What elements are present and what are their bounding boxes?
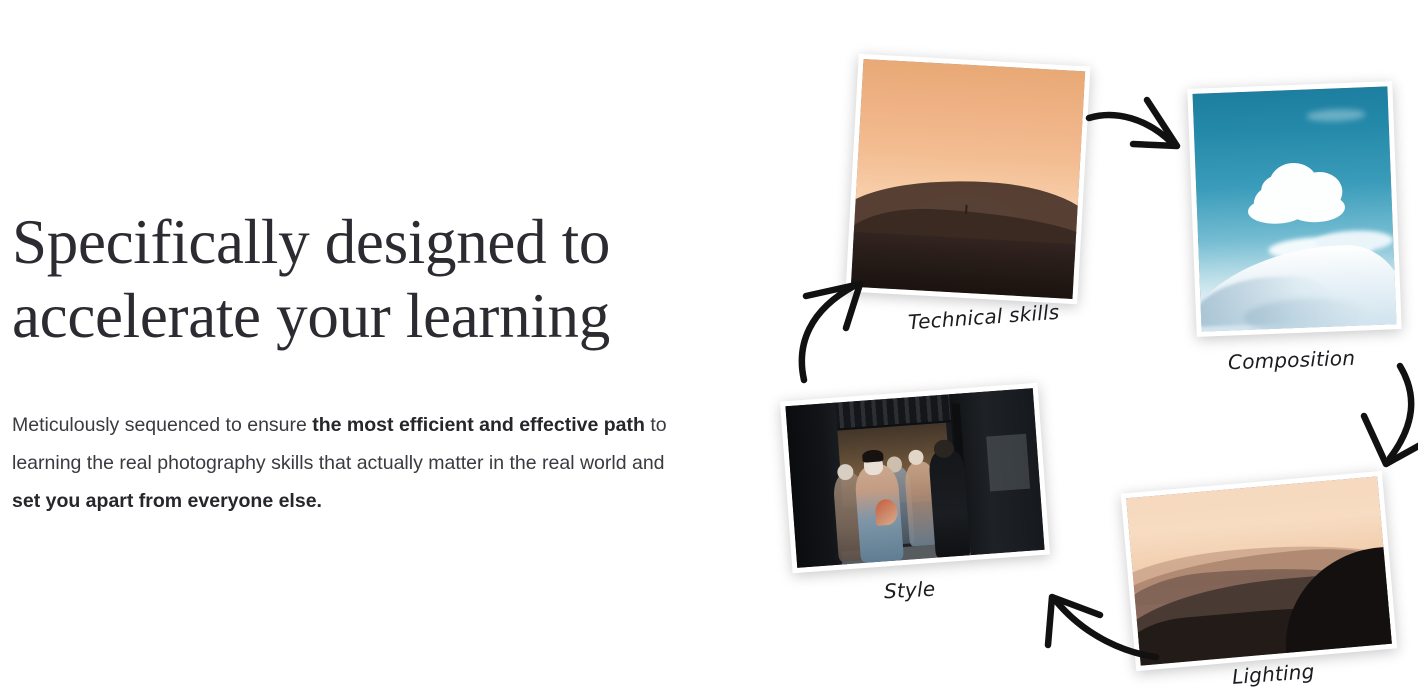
arrow-style-to-technical-icon [790, 278, 872, 386]
street-door-panel [987, 434, 1031, 492]
sunset-photo [851, 59, 1085, 299]
photo-card-style[interactable] [780, 383, 1050, 573]
photo-card-technical-skills[interactable] [846, 54, 1091, 305]
body-bold-phrase-2: set you apart from everyone else. [12, 490, 322, 512]
arrow-composition-to-lighting-icon [1356, 360, 1418, 480]
photo-card-composition[interactable] [1187, 81, 1401, 337]
photo-collage: Technical skills Composition [760, 0, 1418, 690]
cloud-cumulus [1246, 159, 1350, 225]
copy-column: Specifically designed to accelerate your… [12, 205, 702, 520]
body-paragraph: Meticulously sequenced to ensure the mos… [12, 406, 684, 520]
caption-lighting: Lighting [1231, 659, 1315, 689]
caption-composition: Composition [1228, 346, 1356, 374]
caption-technical-skills: Technical skills [907, 300, 1060, 335]
photo-card-lighting[interactable] [1121, 471, 1398, 671]
page-title: Specifically designed to accelerate your… [12, 205, 652, 354]
caption-style: Style [883, 577, 935, 604]
body-bold-phrase-1: the most efficient and effective path [312, 414, 645, 436]
sunset-foreground [851, 232, 1076, 299]
learning-path-section: Specifically designed to accelerate your… [0, 0, 1418, 690]
cloud-photo [1193, 86, 1397, 331]
body-text-part-1: Meticulously sequenced to ensure [12, 414, 312, 436]
mountain-photo [1126, 476, 1392, 665]
street-photo [785, 388, 1044, 568]
street-figure-hair-kimono [862, 449, 884, 462]
